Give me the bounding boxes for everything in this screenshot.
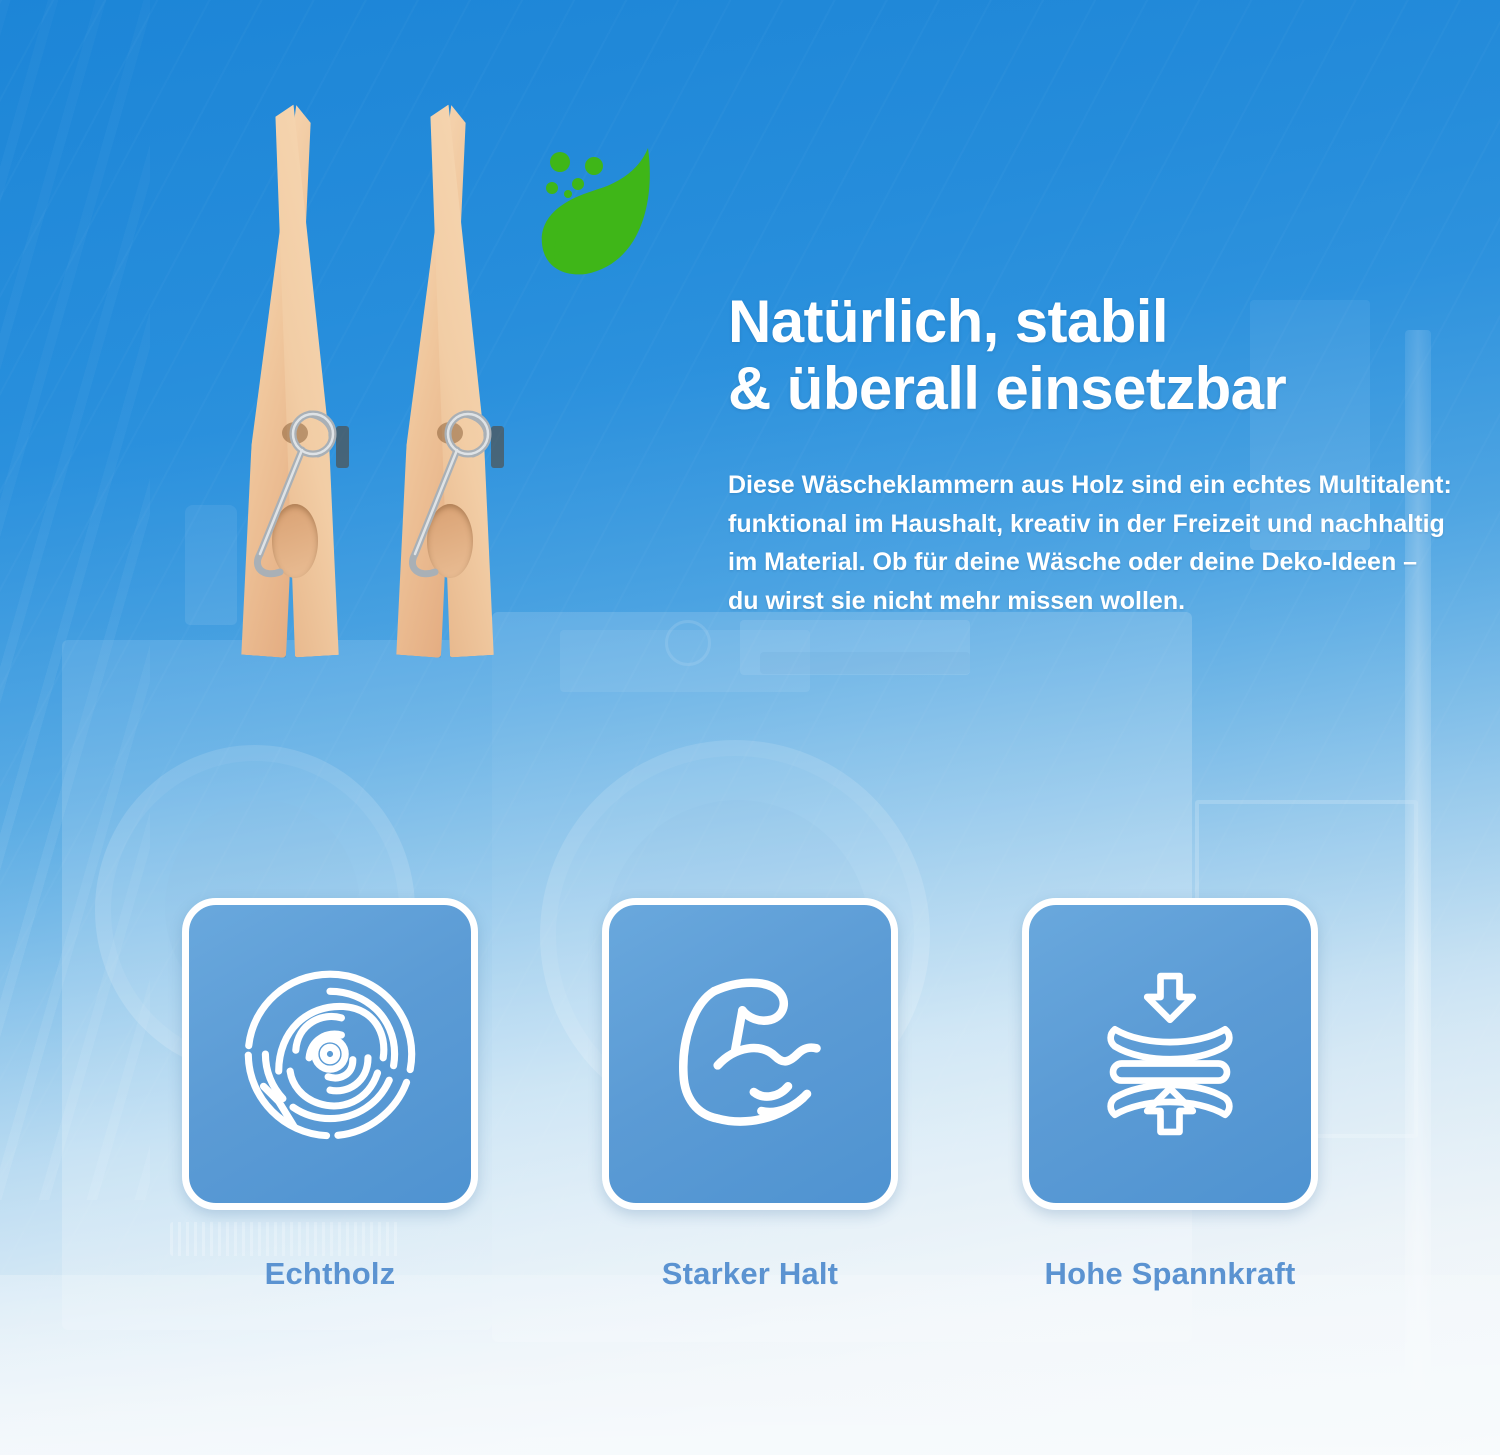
feature-icon-tile [182, 898, 478, 1210]
clothespin-jaw-opening [272, 504, 318, 578]
clothespin-gap [336, 426, 349, 468]
feature-item-hohe-spannkraft: Hohe Spannkraft [1020, 898, 1320, 1298]
headline-line-1: Natürlich, stabil [728, 288, 1168, 355]
flexed-bicep-icon [655, 959, 845, 1149]
hero-copy: Natürlich, stabil & überall einsetzbar D… [728, 288, 1452, 620]
tree-rings-icon [235, 959, 425, 1149]
clothespin-1 [228, 104, 368, 664]
page-title: Natürlich, stabil & überall einsetzbar [728, 288, 1452, 422]
product-infographic: Natürlich, stabil & überall einsetzbar D… [0, 0, 1500, 1455]
feature-item-starker-halt: Starker Halt [600, 898, 900, 1298]
hero-description: Diese Wäscheklammern aus Holz sind ein e… [728, 466, 1452, 620]
compression-arrows-icon [1075, 959, 1265, 1149]
feature-label: Echtholz [265, 1256, 396, 1292]
feature-icon-tile [602, 898, 898, 1210]
clothespin-notch [282, 422, 308, 444]
clothespin-jaw-opening [427, 504, 473, 578]
headline-line-2: & überall einsetzbar [728, 355, 1452, 422]
feature-item-echtholz: Echtholz [180, 898, 480, 1298]
leaf-icon [530, 140, 670, 290]
feature-icon-tile [1022, 898, 1318, 1210]
clothespin-2 [383, 104, 523, 664]
feature-list: Echtholz Starker Halt [180, 898, 1320, 1298]
clothespin-notch [437, 422, 463, 444]
clothespin-gap [491, 426, 504, 468]
feature-label: Starker Halt [662, 1256, 838, 1292]
feature-label: Hohe Spannkraft [1044, 1256, 1295, 1292]
wooden-clothespins-image [228, 104, 538, 664]
